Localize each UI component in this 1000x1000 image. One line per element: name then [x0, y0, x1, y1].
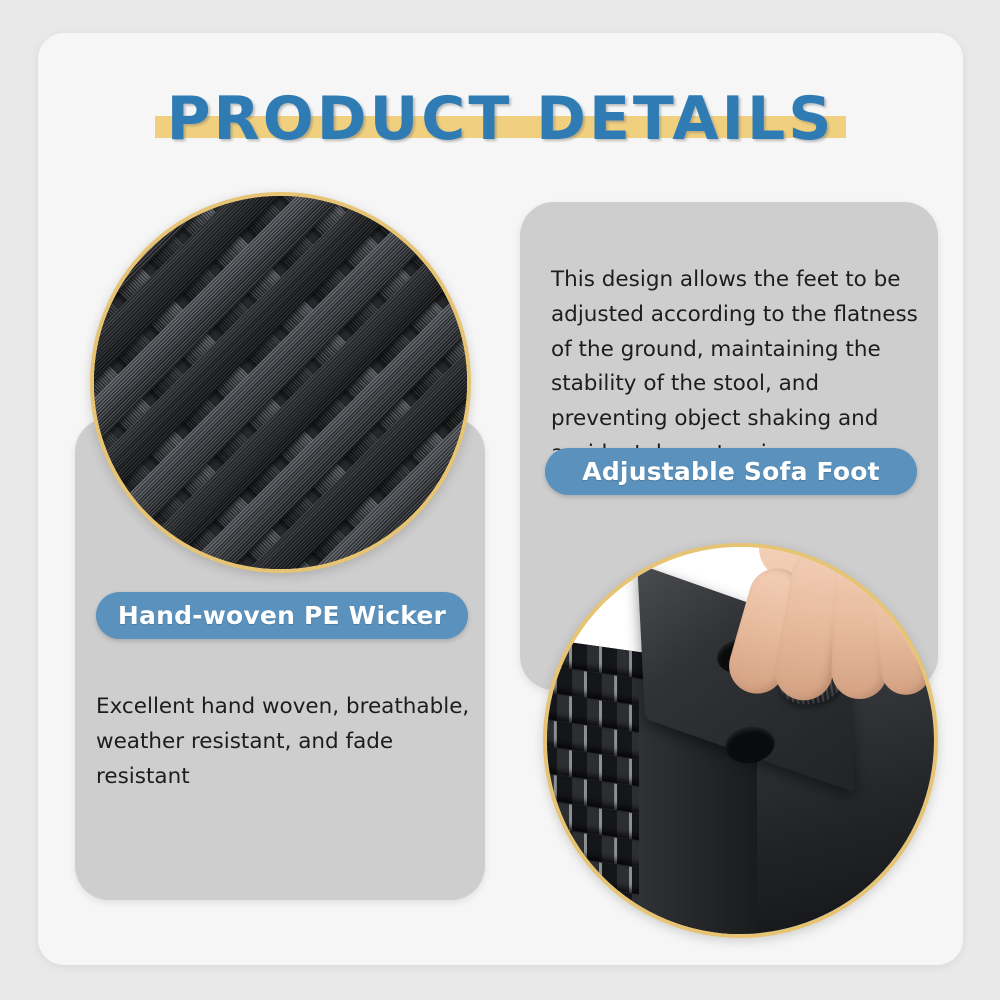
adjustable-foot-photo — [543, 543, 938, 938]
feature-label-wicker: Hand-woven PE Wicker — [96, 592, 468, 639]
page-title-text: PRODUCT DETAILS — [167, 84, 835, 154]
feature-description-wicker: Excellent hand woven, breathable, weathe… — [96, 690, 474, 794]
feature-description-wicker-text: Excellent hand woven, breathable, weathe… — [96, 694, 469, 789]
hand-illustration — [733, 543, 938, 717]
page-title-inner: PRODUCT DETAILS — [153, 84, 849, 154]
foot-scene — [547, 547, 934, 934]
feature-label-wicker-text: Hand-woven PE Wicker — [118, 601, 446, 630]
product-details-card: PRODUCT DETAILS Hand-woven PE Wicker Exc… — [38, 33, 963, 965]
wicker-weave-photo — [90, 192, 471, 573]
feature-description-foot-text: This design allows the feet to be adjust… — [551, 267, 918, 466]
wicker-texture — [90, 192, 471, 573]
weave-layer-diagonal-left — [90, 192, 471, 573]
feature-description-foot: This design allows the feet to be adjust… — [551, 263, 923, 472]
infographic-page: PRODUCT DETAILS Hand-woven PE Wicker Exc… — [0, 0, 1000, 1000]
feature-label-foot: Adjustable Sofa Foot — [545, 448, 917, 495]
page-title: PRODUCT DETAILS — [38, 69, 963, 169]
feature-label-foot-text: Adjustable Sofa Foot — [582, 457, 879, 486]
